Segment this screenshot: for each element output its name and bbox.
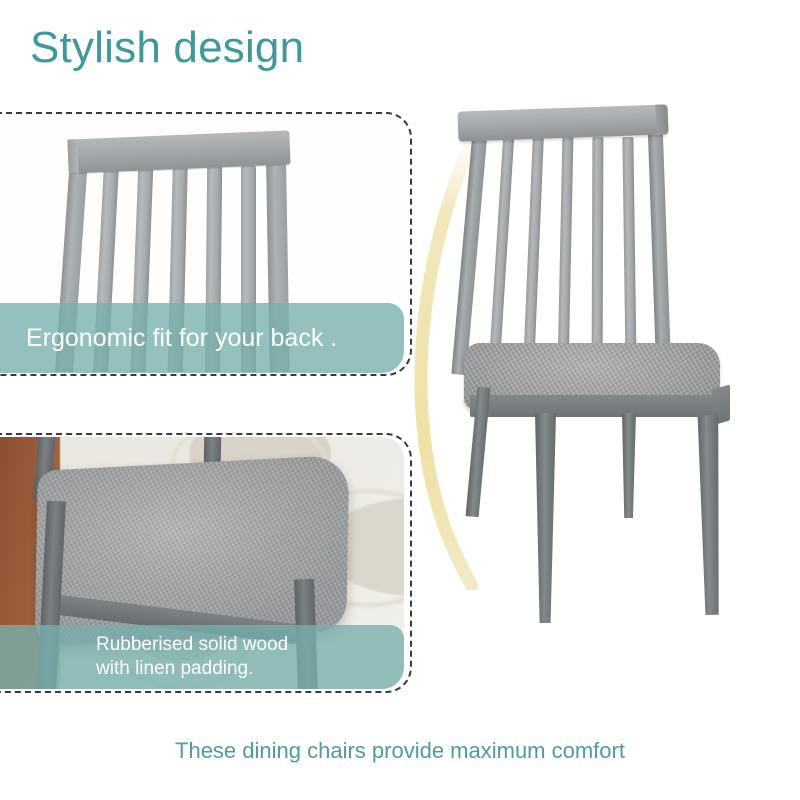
hero-chair-right-post [648,130,671,370]
hero-chair-apron [470,395,720,417]
feature-seat-caption-block: Rubberised solid wood with linen padding… [96,633,288,681]
feature-back-caption: Ergonomic fit for your back . [0,303,404,373]
hero-chair-rear-right-leg [622,413,636,518]
hero-chair-front-right-leg [696,415,721,615]
hero-chair-slat [558,137,574,369]
hero-chair-left-post [451,130,487,375]
hero-chair-slat [592,137,604,370]
feature-seat-caption: Rubberised solid wood with linen padding… [0,625,404,689]
hero-chair-front-left-leg [535,413,556,623]
feature-back-caption-text: Ergonomic fit for your back . [26,324,337,353]
hero-chair-photo [430,95,800,695]
hero-chair-slat [523,137,544,367]
hero-chair-slat [622,137,636,371]
page-title: Stylish design [30,26,304,70]
feature-seat-caption-line-1: Rubberised solid wood [96,633,288,657]
product-feature-graphic: Stylish design Ergonomic fit for your ba… [0,0,800,800]
hero-chair-slat [489,137,514,365]
hero-chair-top-rail [458,104,669,141]
feature-seat-caption-line-2: with linen padding. [96,657,288,681]
footer-tagline: These dining chairs provide maximum comf… [0,738,800,764]
